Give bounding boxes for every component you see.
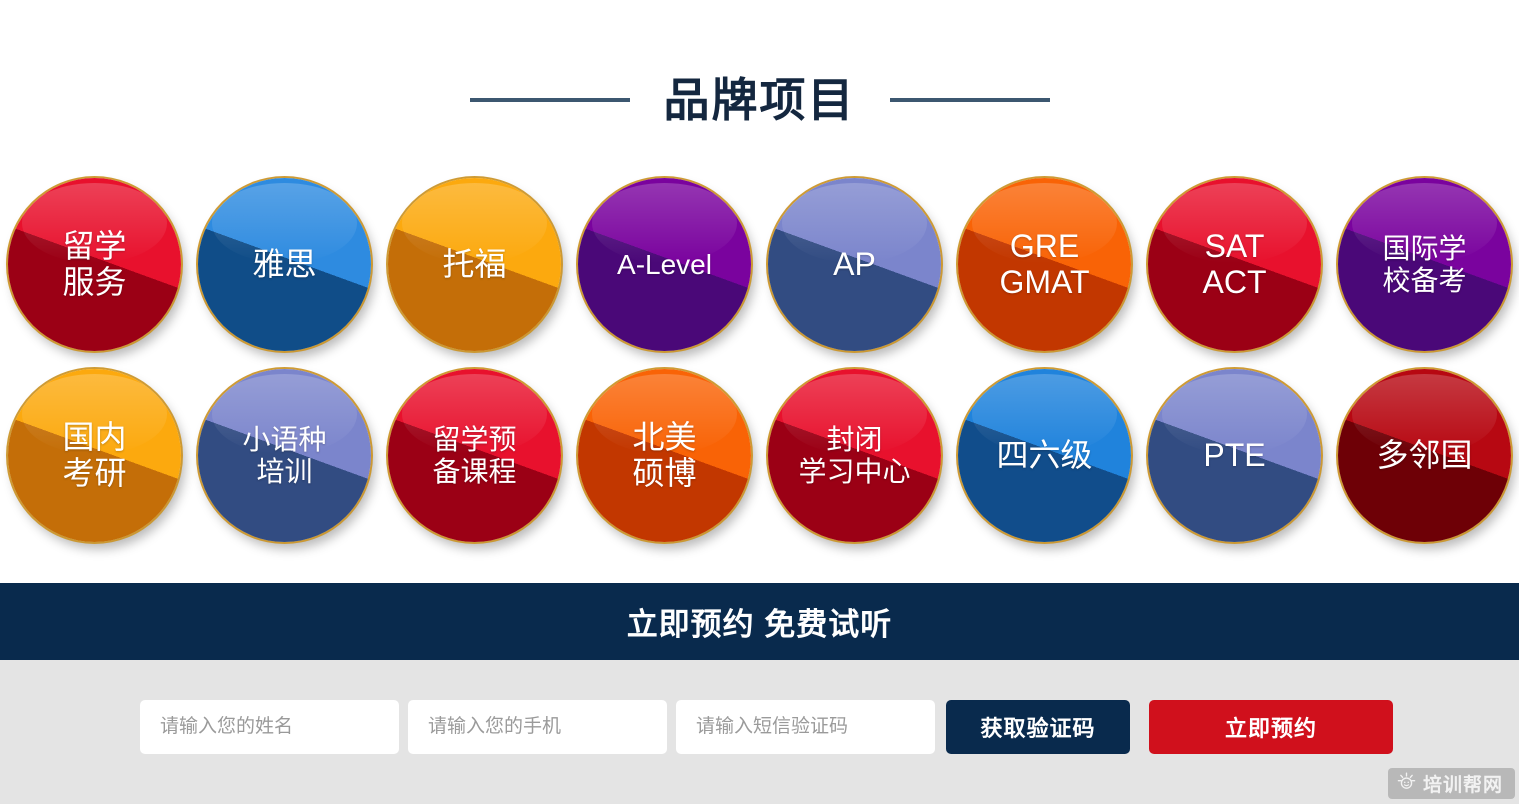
bubble-pte[interactable]: PTE	[1148, 369, 1321, 542]
bubble-label: 留学 服务	[56, 229, 132, 301]
get-code-button[interactable]: 获取验证码	[946, 700, 1130, 754]
bubble-label: 托福	[436, 247, 512, 283]
bubble-label: 封闭 学习中心	[792, 424, 916, 487]
program-grid: 留学 服务雅思托福A-LevelAPGRE GMATSAT ACT国际学 校备考…	[0, 178, 1519, 542]
bubble-label: 国内 考研	[56, 420, 132, 492]
bubble-label: 雅思	[246, 247, 322, 283]
bubble-fengbi-xuexi-zhongxin[interactable]: 封闭 学习中心	[768, 369, 941, 542]
bubble-guonei-kaoyan[interactable]: 国内 考研	[8, 369, 181, 542]
bubble-label: PTE	[1197, 438, 1271, 474]
bubble-label: 小语种 培训	[236, 424, 332, 487]
page-title-row: 品牌项目	[0, 62, 1519, 138]
bubble-yasi[interactable]: 雅思	[198, 178, 371, 351]
name-input[interactable]	[140, 700, 399, 754]
bubble-ap[interactable]: AP	[768, 178, 941, 351]
bubble-label: A-Level	[611, 249, 718, 280]
bubble-label: 国际学 校备考	[1376, 233, 1472, 296]
phone-input[interactable]	[408, 700, 667, 754]
bubble-label: 留学预 备课程	[426, 424, 522, 487]
brand-programs-page: 品牌项目 留学 服务雅思托福A-LevelAPGRE GMATSAT ACT国际…	[0, 0, 1519, 804]
bubble-gre-gmat[interactable]: GRE GMAT	[958, 178, 1131, 351]
appointment-form-strip: 获取验证码 立即预约	[0, 660, 1519, 804]
program-row-1: 留学 服务雅思托福A-LevelAPGRE GMATSAT ACT国际学 校备考	[0, 178, 1519, 351]
program-row-2: 国内 考研小语种 培训留学预 备课程北美 硕博封闭 学习中心四六级PTE多邻国	[0, 369, 1519, 542]
bubble-label: 四六级	[990, 438, 1098, 474]
bubble-tuofu[interactable]: 托福	[388, 178, 561, 351]
bubble-label: 北美 硕博	[626, 420, 702, 492]
bubble-label: AP	[827, 247, 882, 283]
page-title: 品牌项目	[664, 77, 856, 123]
watermark-text: 培训帮网	[1423, 770, 1503, 797]
title-rule-left	[470, 98, 630, 102]
appointment-form: 获取验证码 立即预约	[140, 700, 1393, 754]
cta-banner-text: 立即预约 免费试听	[627, 599, 893, 644]
bubble-label: SAT ACT	[1197, 229, 1273, 301]
bubble-a-level[interactable]: A-Level	[578, 178, 751, 351]
bubble-duolinguo[interactable]: 多邻国	[1338, 369, 1511, 542]
bubble-liuxue-yubei-kecheng[interactable]: 留学预 备课程	[388, 369, 561, 542]
title-rule-right	[890, 98, 1050, 102]
bubble-xiaoyuzhong-peixun[interactable]: 小语种 培训	[198, 369, 371, 542]
bubble-label: 多邻国	[1370, 438, 1478, 474]
bubble-siliuji[interactable]: 四六级	[958, 369, 1131, 542]
bubble-label: GRE GMAT	[993, 229, 1095, 301]
bubble-guoji-xuexiao-beikao[interactable]: 国际学 校备考	[1338, 178, 1511, 351]
sms-code-input[interactable]	[676, 700, 935, 754]
bubble-beimei-shuobo[interactable]: 北美 硕博	[578, 369, 751, 542]
sun-face-icon	[1397, 772, 1416, 796]
submit-appointment-button[interactable]: 立即预约	[1149, 700, 1393, 754]
bubble-liuxue-fuwu[interactable]: 留学 服务	[8, 178, 181, 351]
cta-banner: 立即预约 免费试听	[0, 583, 1519, 660]
site-watermark: 培训帮网	[1388, 768, 1515, 799]
bubble-sat-act[interactable]: SAT ACT	[1148, 178, 1321, 351]
